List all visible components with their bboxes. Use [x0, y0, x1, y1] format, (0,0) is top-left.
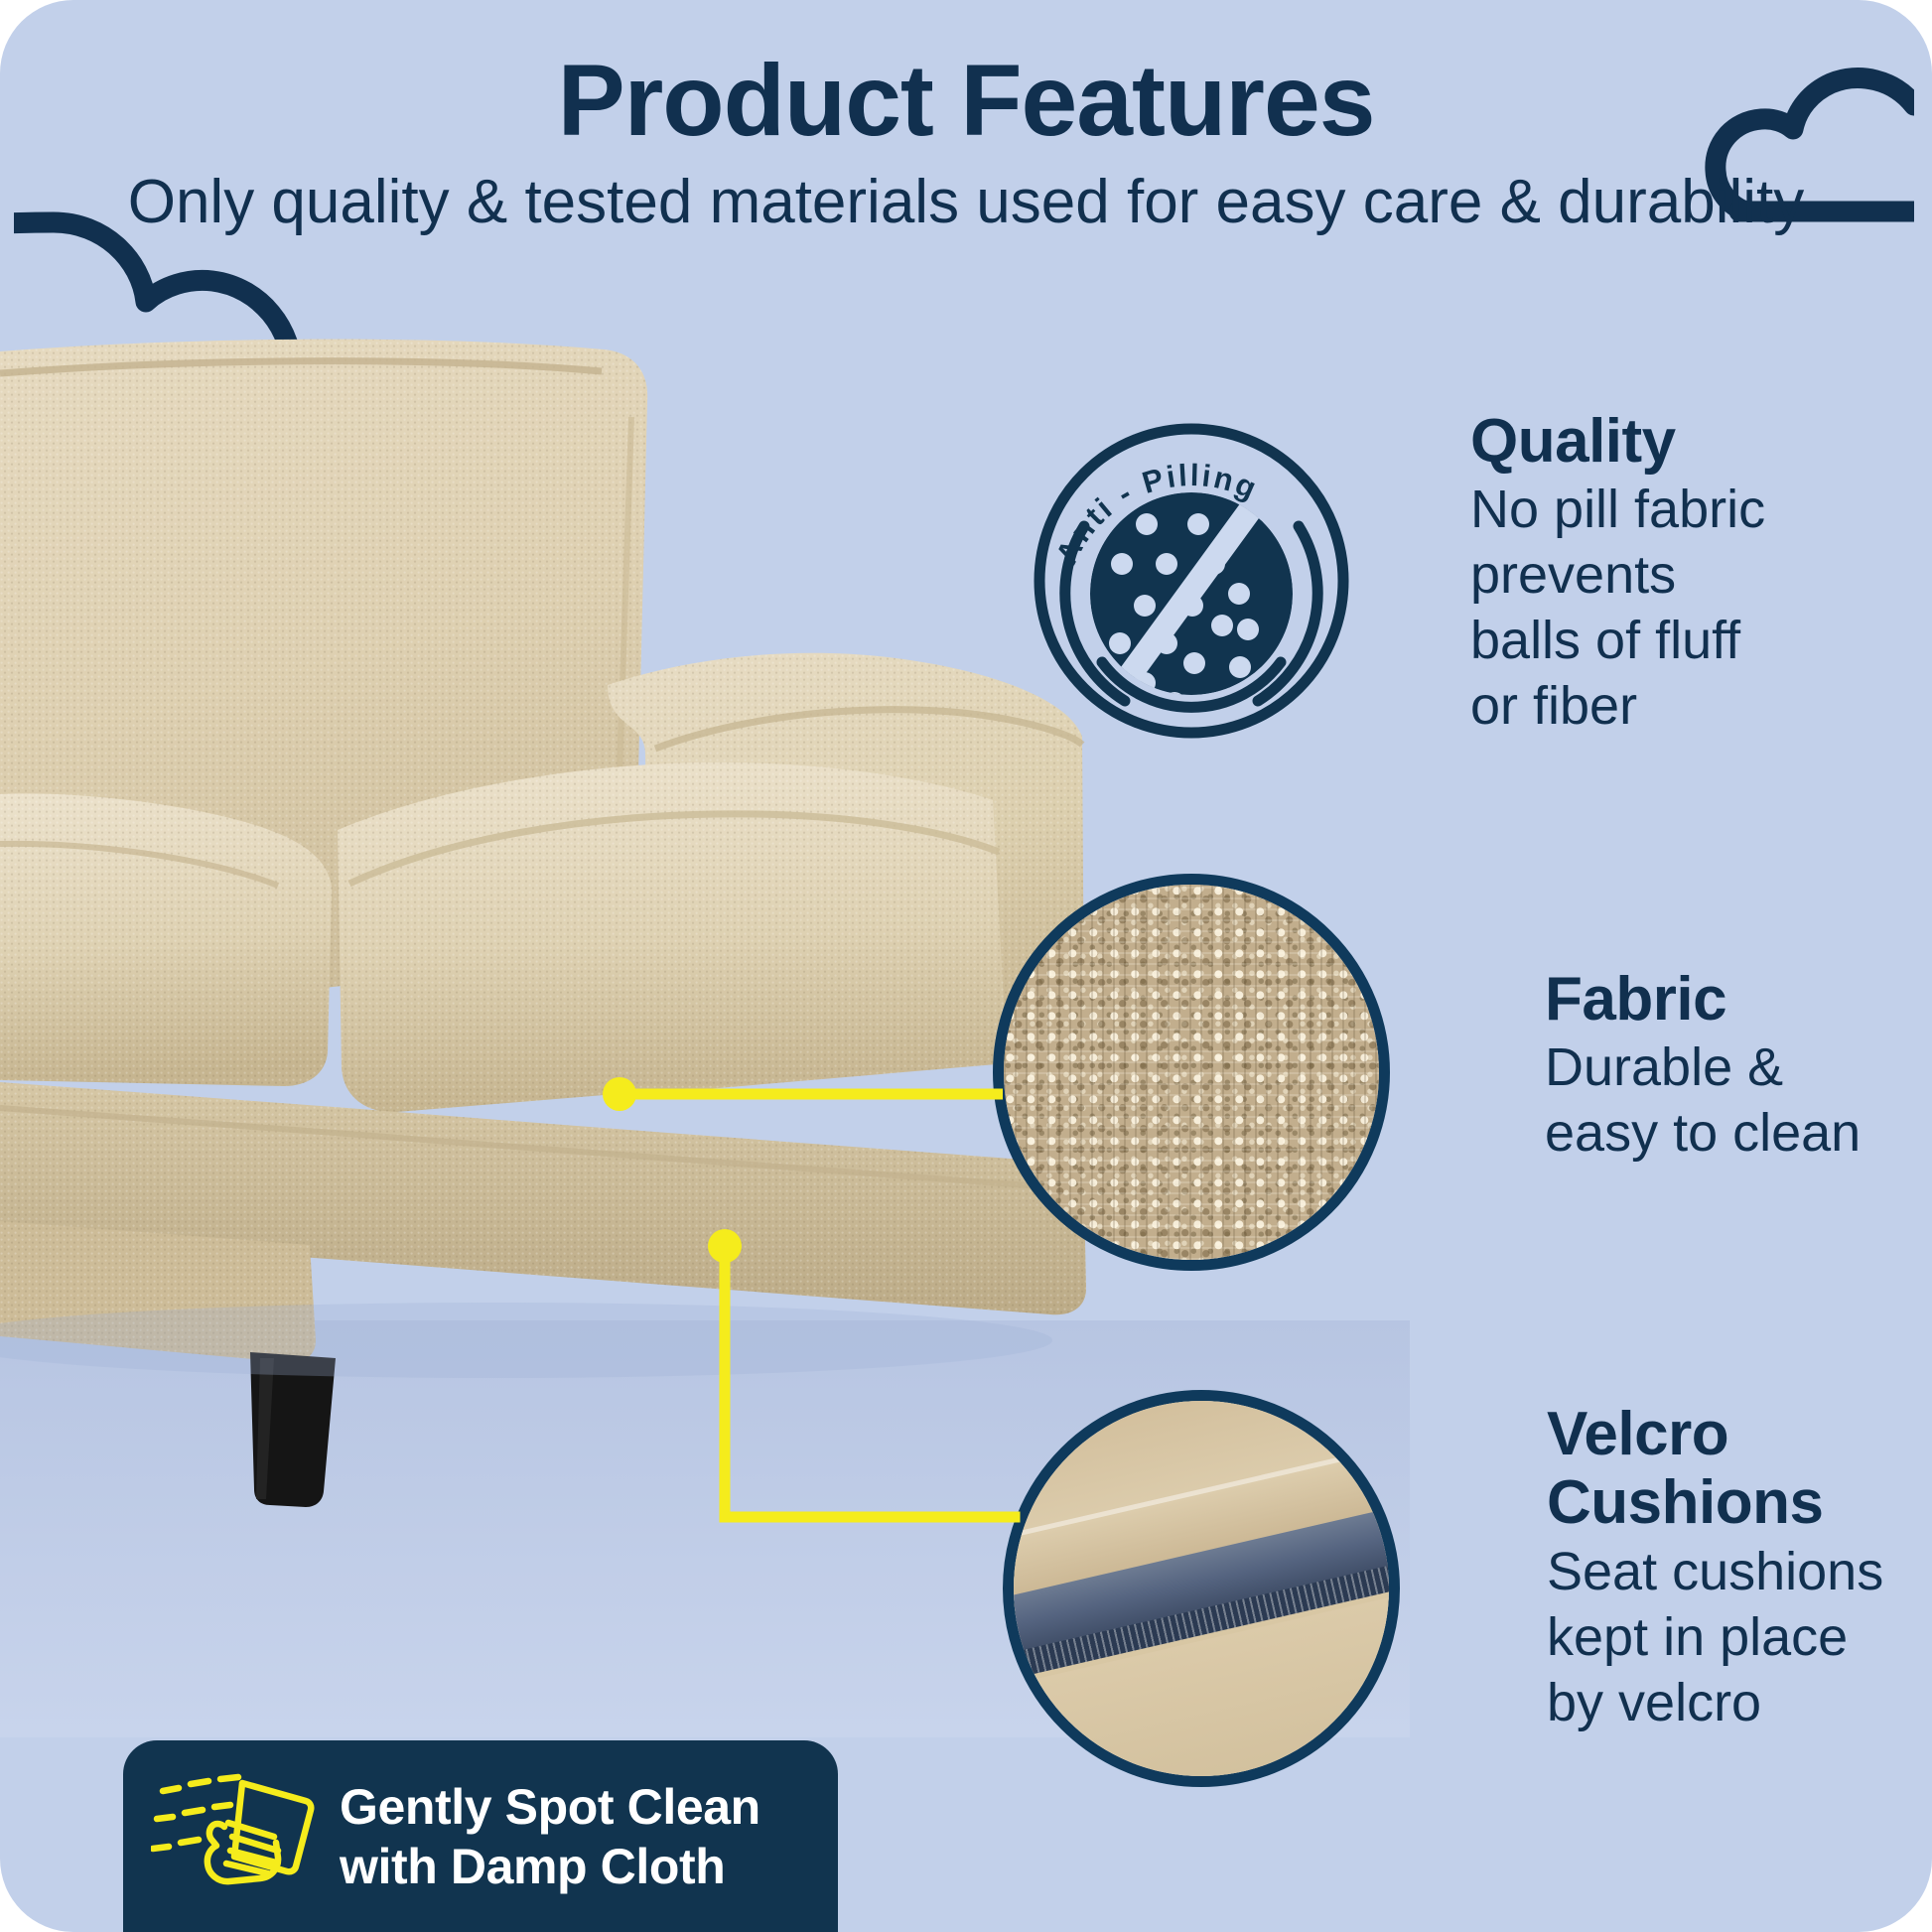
feature-text-quality: Quality No pill fabric prevents balls of… — [1470, 407, 1765, 740]
fabric-weave-closeup-circle — [993, 874, 1390, 1271]
feature-row-quality: Anti - Pilling Quality No — [1028, 417, 1765, 745]
feature-row-fabric: Fabric Durable & easy to clean — [993, 874, 1861, 1271]
feature-desc-velcro: Seat cushions kept in place by velcro — [1547, 1540, 1883, 1736]
page-title: Product Features — [0, 46, 1932, 155]
feature-text-fabric: Fabric Durable & easy to clean — [1545, 965, 1861, 1167]
infographic-canvas: Product Features Only quality & tested m… — [0, 0, 1932, 1932]
feature-title-fabric: Fabric — [1545, 965, 1861, 1034]
page-subtitle: Only quality & tested materials used for… — [0, 165, 1932, 240]
feature-text-velcro: Velcro Cushions Seat cushions kept in pl… — [1547, 1400, 1883, 1736]
header: Product Features Only quality & tested m… — [0, 46, 1932, 240]
spot-clean-banner: Gently Spot Clean with Damp Cloth — [123, 1740, 838, 1932]
velcro-strip-closeup-circle — [1003, 1390, 1400, 1787]
feature-row-velcro: Velcro Cushions Seat cushions kept in pl… — [1003, 1390, 1883, 1787]
anti-pilling-badge-icon: Anti - Pilling — [1028, 417, 1355, 745]
feature-title-velcro: Velcro Cushions — [1547, 1400, 1883, 1538]
banner-text: Gently Spot Clean with Damp Cloth — [340, 1777, 760, 1896]
feature-desc-fabric: Durable & easy to clean — [1545, 1035, 1861, 1167]
feature-desc-quality: No pill fabric prevents balls of fluff o… — [1470, 478, 1765, 740]
hand-wiping-cloth-icon — [151, 1761, 318, 1912]
feature-title-quality: Quality — [1470, 407, 1765, 476]
